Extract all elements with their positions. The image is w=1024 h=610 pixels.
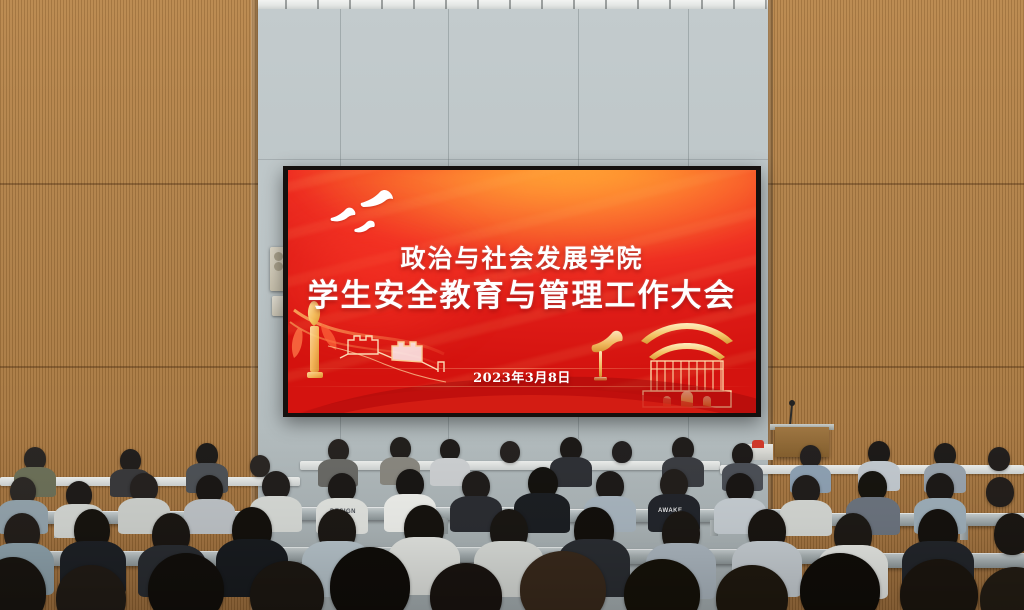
led-screen-bezel: 政治与社会发展学院 学生安全教育与管理工作大会 2023年3月8日: [283, 166, 761, 417]
dove-icon: [360, 189, 394, 209]
audience-body: [780, 500, 832, 536]
ceiling-tick-pattern: [255, 0, 770, 9]
screen-event-date: 2023年3月8日: [288, 367, 756, 386]
audience-head: [500, 441, 520, 463]
audience-head-foreground: [980, 567, 1024, 610]
screen-title-line-2: 学生安全教育与管理工作大会: [288, 277, 756, 317]
doves-group: [330, 187, 420, 243]
audience-head: [988, 447, 1010, 471]
audience-area: DESIGN AWAKE: [0, 425, 1024, 610]
auditorium-photo: 政治与社会发展学院 学生安全教育与管理工作大会 2023年3月8日: [0, 0, 1024, 610]
audience-head: [994, 513, 1024, 555]
screen-title-line-1: 政治与社会发展学院: [288, 243, 756, 274]
dove-icon: [330, 207, 356, 223]
dove-icon: [354, 220, 376, 234]
screen-title-block: 政治与社会发展学院 学生安全教育与管理工作大会: [288, 243, 756, 317]
led-screen: 政治与社会发展学院 学生安全教育与管理工作大会 2023年3月8日: [288, 170, 756, 413]
audience-head: [612, 441, 632, 463]
audience-head: [986, 477, 1014, 507]
audience-body: [184, 499, 235, 534]
